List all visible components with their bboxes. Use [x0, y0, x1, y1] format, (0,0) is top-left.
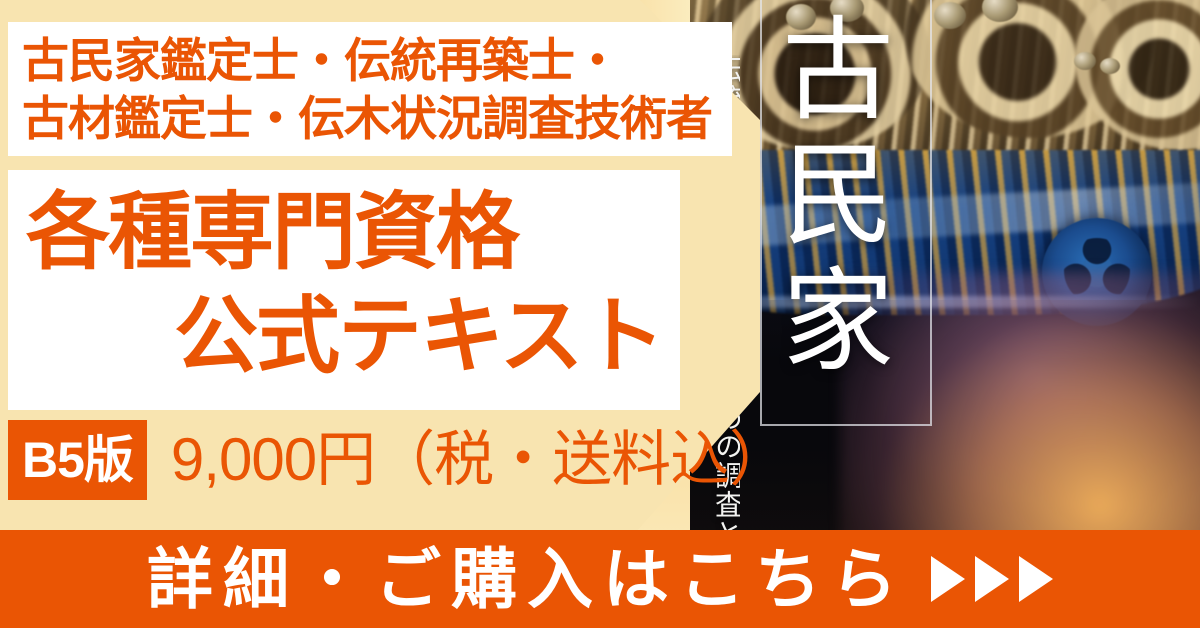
headline-line-2: 古材鑑定士・伝木状況調査技術者: [22, 90, 712, 148]
cover-frame-line-right: [930, 0, 932, 424]
cover-title-char-3: 家: [778, 261, 898, 386]
price-text: 9,000円（税・送料込）: [171, 420, 788, 500]
cta-arrows: [931, 556, 1053, 602]
wood-bead: [934, 2, 966, 29]
banner-root: 古 民 家 伝統構法、古民家活用のための調査と再生の 古民家鑑定士・伝統再築士・…: [0, 0, 1200, 628]
title-line-1: 各種専門資格: [26, 180, 663, 284]
cover-frame-line-left: [760, 0, 762, 424]
cover-title: 古 民 家: [778, 10, 898, 386]
triangle-right-icon: [1019, 556, 1053, 602]
price-row: B5版 9,000円（税・送料込）: [8, 420, 788, 500]
format-badge: B5版: [8, 420, 147, 500]
wood-bead: [1074, 52, 1096, 70]
cover-title-char-2: 民: [778, 135, 898, 260]
title-panel: 各種専門資格 公式テキスト: [8, 170, 680, 410]
wood-bead: [1100, 58, 1120, 74]
headline-line-1: 古民家鑑定士・伝統再築士・: [22, 32, 712, 90]
title-line-2: 公式テキスト: [26, 284, 663, 388]
cover-title-char-1: 古: [778, 10, 898, 135]
cta-bar[interactable]: 詳細・ご購入はこちら: [0, 530, 1200, 628]
triangle-right-icon: [931, 556, 965, 602]
headline-panel: 古民家鑑定士・伝統再築士・ 古材鑑定士・伝木状況調査技術者: [8, 22, 732, 156]
cta-label: 詳細・ご購入はこちら: [147, 530, 907, 628]
triangle-right-icon: [975, 556, 1009, 602]
